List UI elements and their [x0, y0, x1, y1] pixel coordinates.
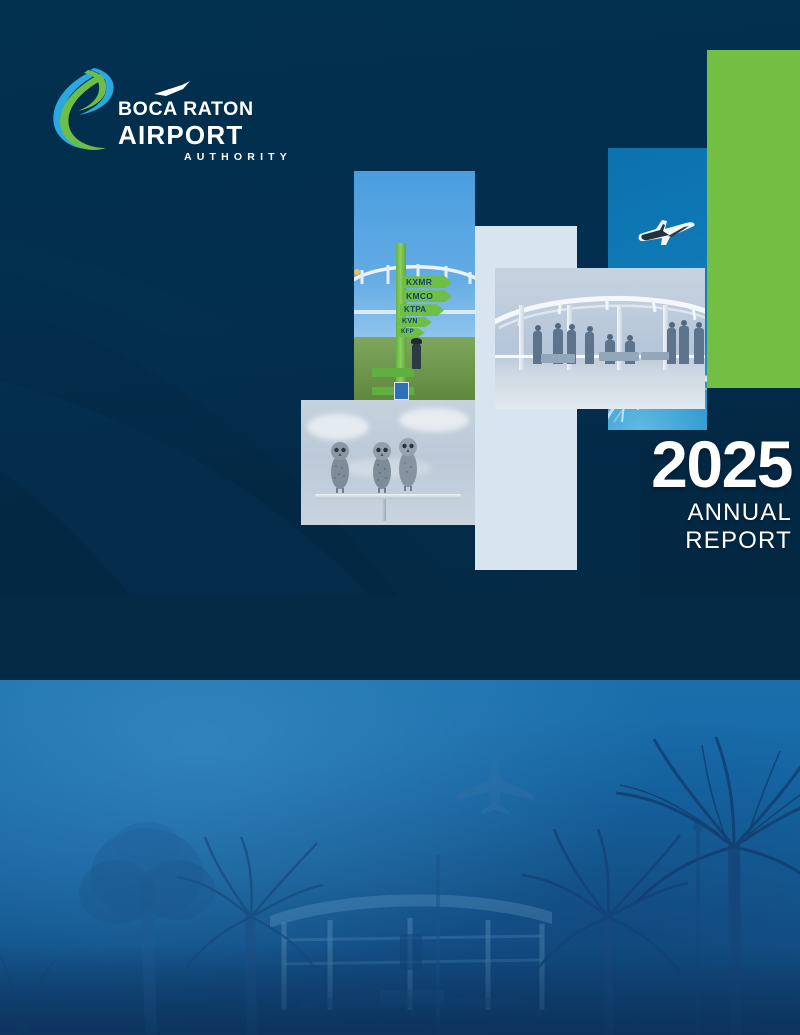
- report-cover-page: BOCA RATON AIRPORT AUTHORITY: [0, 0, 800, 1035]
- burrowing-owl: [327, 438, 353, 494]
- perch-rail: [315, 494, 461, 499]
- airplane-overhead-icon: [455, 758, 539, 814]
- logo-line-2: AIRPORT: [118, 122, 294, 149]
- deck-bench: [541, 354, 575, 363]
- business-jet-icon: [636, 214, 698, 248]
- bottom-photo: [0, 680, 800, 1035]
- signpost-plaque-top: [372, 368, 414, 377]
- observation-deck-photo: [495, 268, 705, 409]
- report-subtitle: ANNUAL REPORT: [592, 499, 792, 555]
- airplane-icon: [152, 80, 192, 98]
- destination-sign-1: KMCO: [402, 290, 452, 302]
- destination-sign-3: KVN: [398, 317, 432, 327]
- owls-photo: [301, 400, 475, 525]
- burrowing-owl: [369, 438, 395, 494]
- deck-column: [519, 305, 524, 370]
- foreground-ground: [0, 945, 800, 1035]
- navy-lower-band: [0, 596, 800, 680]
- visitor-figure: [585, 332, 594, 364]
- deck-bench: [641, 352, 669, 360]
- perch-rail-support: [381, 499, 386, 521]
- visitor-figure: [694, 328, 704, 364]
- logo-line-3: AUTHORITY: [118, 152, 294, 163]
- destination-sign-4: KFP: [397, 328, 425, 337]
- logo: BOCA RATON AIRPORT AUTHORITY: [48, 68, 258, 168]
- logo-wordmark: BOCA RATON AIRPORT AUTHORITY: [118, 100, 294, 162]
- cloud: [399, 408, 469, 432]
- report-year: 2025: [592, 434, 792, 495]
- burrowing-owl: [395, 434, 421, 492]
- visitor-figure: [412, 343, 421, 369]
- info-placard: [394, 382, 409, 400]
- cloud: [307, 414, 369, 440]
- visitor-figure: [679, 326, 689, 364]
- logo-line-1: BOCA RATON: [118, 100, 294, 120]
- destination-sign-2: KTPA: [400, 304, 444, 316]
- green-accent-bar: [707, 50, 800, 388]
- deck-bench: [599, 352, 639, 361]
- swoosh-monogram-icon: [48, 68, 122, 154]
- cover-title-block: 2025 ANNUAL REPORT: [592, 434, 792, 555]
- destination-sign-0: KXMR: [402, 276, 452, 288]
